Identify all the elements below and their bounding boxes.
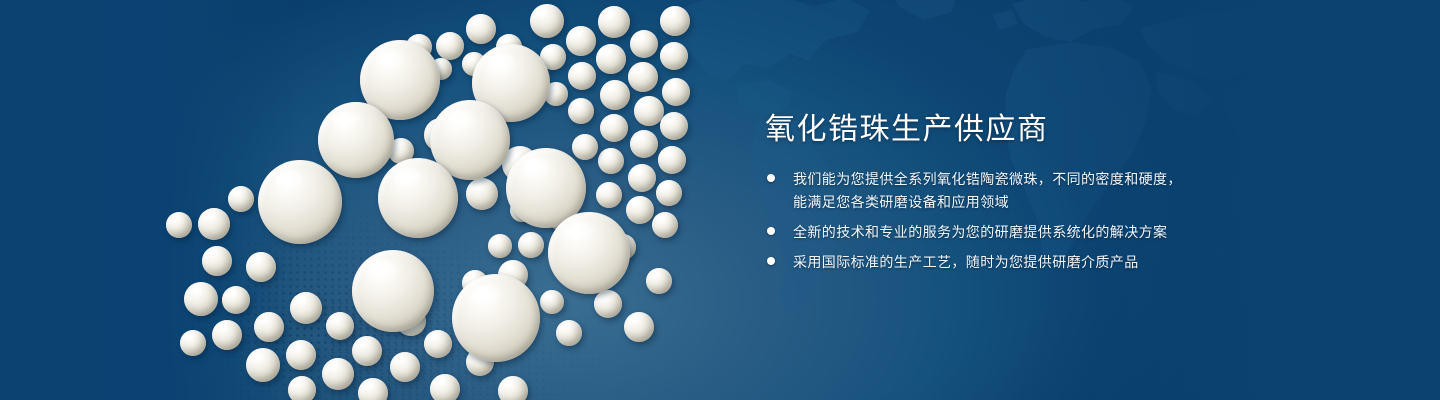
list-item: 采用国际标准的生产工艺，随时为您提供研磨介质产品	[765, 251, 1225, 274]
bullet-text: 我们能为您提供全系列氧化锆陶瓷微珠，不同的密度和硬度， 能满足您各类研磨设备和应…	[793, 171, 1225, 214]
bullet-line-1: 全新的技术和专业的服务为您的研磨提供系统化的解决方案	[793, 224, 1167, 240]
bullet-dot-icon	[767, 227, 775, 235]
bullet-line-2: 能满足您各类研磨设备和应用领域	[793, 191, 1225, 214]
bullet-text: 全新的技术和专业的服务为您的研磨提供系统化的解决方案	[793, 224, 1167, 240]
banner-title: 氧化锆珠生产供应商	[765, 112, 1049, 148]
product-banner: 氧化锆珠生产供应商 我们能为您提供全系列氧化锆陶瓷微珠，不同的密度和硬度， 能满…	[0, 0, 1440, 400]
bullet-text: 采用国际标准的生产工艺，随时为您提供研磨介质产品	[793, 254, 1139, 270]
bullet-dot-icon	[767, 174, 775, 182]
list-item: 我们能为您提供全系列氧化锆陶瓷微珠，不同的密度和硬度， 能满足您各类研磨设备和应…	[765, 168, 1225, 214]
bullet-line-1: 采用国际标准的生产工艺，随时为您提供研磨介质产品	[793, 254, 1139, 270]
banner-bullet-list: 我们能为您提供全系列氧化锆陶瓷微珠，不同的密度和硬度， 能满足您各类研磨设备和应…	[765, 168, 1225, 281]
banner-text-block: 氧化锆珠生产供应商 我们能为您提供全系列氧化锆陶瓷微珠，不同的密度和硬度， 能满…	[765, 0, 1365, 400]
bullet-dot-icon	[767, 257, 775, 265]
list-item: 全新的技术和专业的服务为您的研磨提供系统化的解决方案	[765, 221, 1225, 244]
bullet-line-1: 我们能为您提供全系列氧化锆陶瓷微珠，不同的密度和硬度，	[793, 171, 1182, 187]
zirconia-ceramic-beads	[0, 0, 760, 400]
